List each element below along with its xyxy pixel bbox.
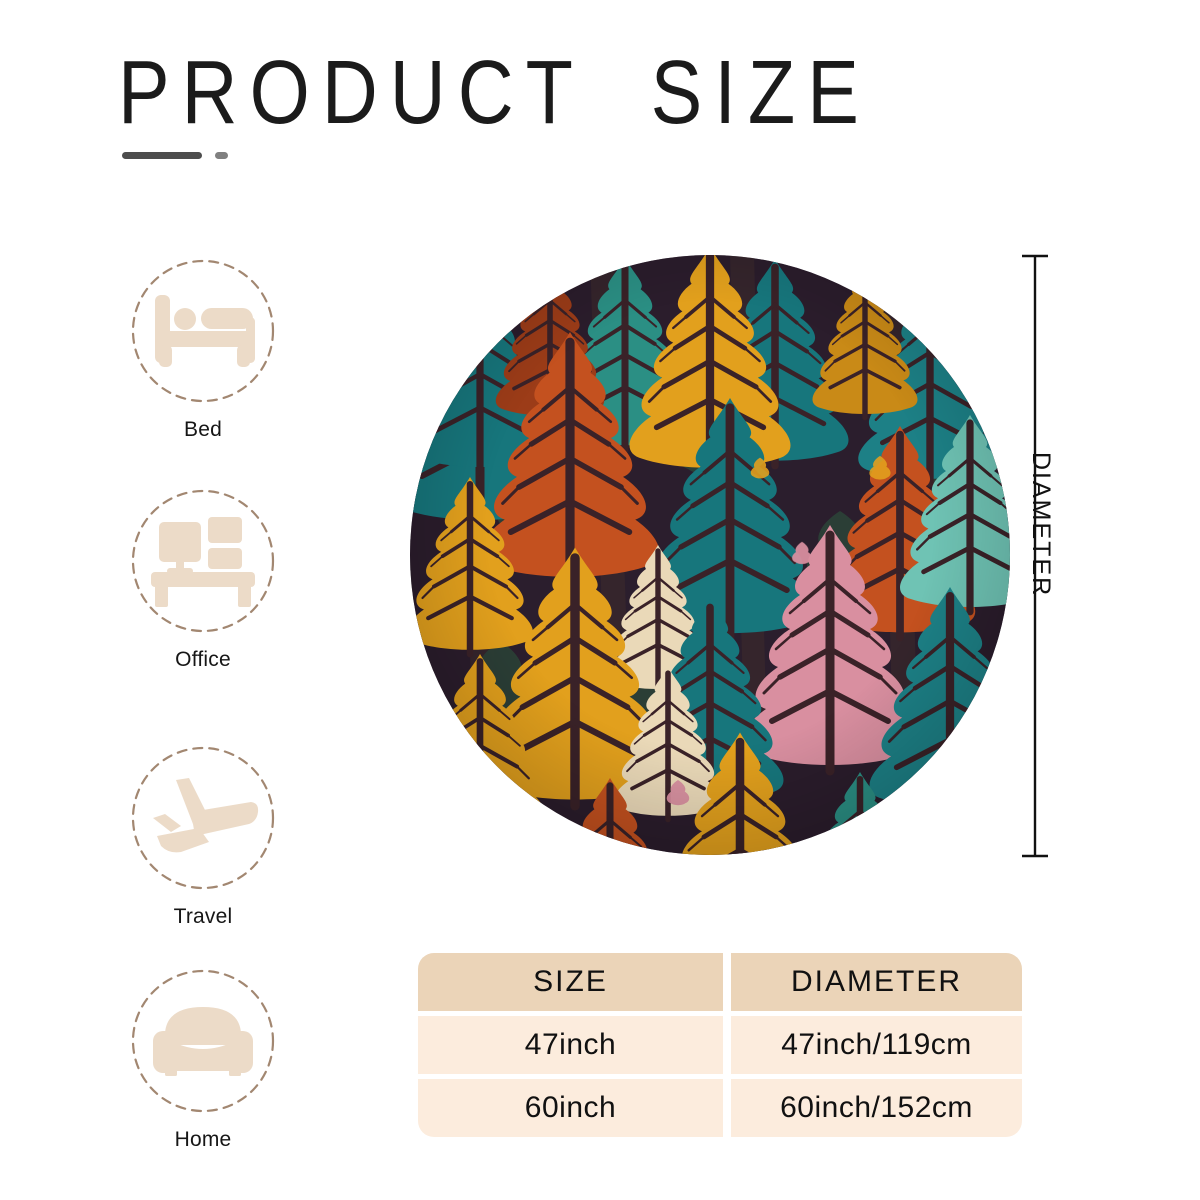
- table-cell-diameter: 60inch/152cm: [731, 1079, 1022, 1137]
- airplane-icon: [147, 774, 259, 862]
- feature-item-home[interactable]: Home: [127, 968, 279, 1152]
- feature-label-office: Office: [127, 648, 279, 672]
- bed-icon: [151, 293, 255, 369]
- diameter-label: DIAMETER: [1026, 452, 1055, 597]
- table-cell-size: 60inch: [418, 1079, 723, 1137]
- feature-circle-home: [130, 968, 276, 1114]
- table-row: 47inch 47inch/119cm: [418, 1016, 1022, 1074]
- product-image: [410, 255, 1010, 855]
- feature-label-travel: Travel: [127, 905, 279, 929]
- sofa-icon: [151, 1001, 255, 1081]
- feature-list: Bed Office: [0, 0, 400, 1200]
- desk-icon: [151, 515, 255, 607]
- size-table: SIZE DIAMETER 47inch 47inch/119cm 60inch…: [418, 953, 1022, 1137]
- feature-label-bed: Bed: [127, 418, 279, 442]
- feature-item-bed[interactable]: Bed: [127, 258, 279, 442]
- table-header-diameter: DIAMETER: [731, 953, 1022, 1011]
- feature-label-home: Home: [127, 1128, 279, 1152]
- feature-item-office[interactable]: Office: [127, 488, 279, 672]
- table-cell-diameter: 47inch/119cm: [731, 1016, 1022, 1074]
- table-cell-size: 47inch: [418, 1016, 723, 1074]
- forest-pattern: [410, 255, 1010, 855]
- table-row: 60inch 60inch/152cm: [418, 1079, 1022, 1137]
- table-header-row: SIZE DIAMETER: [418, 953, 1022, 1011]
- feature-circle-travel: [130, 745, 276, 891]
- feature-circle-office: [130, 488, 276, 634]
- table-header-size: SIZE: [418, 953, 723, 1011]
- feature-item-travel[interactable]: Travel: [127, 745, 279, 929]
- feature-circle-bed: [130, 258, 276, 404]
